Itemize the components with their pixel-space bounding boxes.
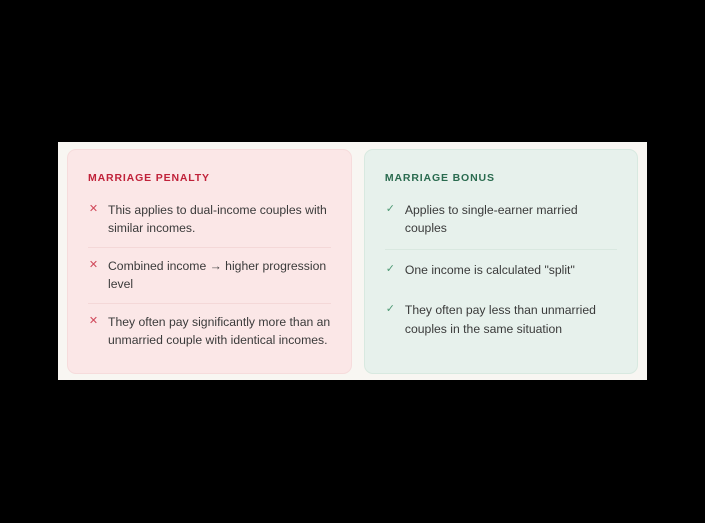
list-item: ✕ Combined income → higher progression l… bbox=[88, 257, 331, 304]
cross-icon: ✕ bbox=[88, 313, 99, 331]
comparison-panel: MARRIAGE PENALTY ✕ This applies to dual-… bbox=[58, 142, 647, 380]
list-item: ✕ They often pay significantly more than… bbox=[88, 313, 331, 350]
list-item-label: Combined income → higher progression lev… bbox=[108, 257, 331, 294]
list-item: ✕ This applies to dual-income couples wi… bbox=[88, 201, 331, 248]
card-title-marriage-penalty: MARRIAGE PENALTY bbox=[88, 172, 331, 185]
list-item: ✓ One income is calculated "split" bbox=[385, 261, 617, 291]
list-item-label: Applies to single-earner married couples bbox=[405, 201, 617, 238]
list-item-label: They often pay less than unmarried coupl… bbox=[405, 301, 617, 338]
list-item-label: They often pay significantly more than a… bbox=[108, 313, 331, 350]
card-title-marriage-bonus: MARRIAGE BONUS bbox=[385, 172, 617, 185]
list-item: ✓ They often pay less than unmarried cou… bbox=[385, 301, 617, 338]
card-marriage-penalty: MARRIAGE PENALTY ✕ This applies to dual-… bbox=[67, 149, 352, 374]
list-item-label: One income is calculated "split" bbox=[405, 261, 617, 280]
check-icon: ✓ bbox=[385, 301, 396, 319]
card-marriage-bonus: MARRIAGE BONUS ✓ Applies to single-earne… bbox=[364, 149, 638, 374]
cross-icon: ✕ bbox=[88, 257, 99, 275]
bonus-list: ✓ Applies to single-earner married coupl… bbox=[385, 201, 617, 339]
list-item: ✓ Applies to single-earner married coupl… bbox=[385, 201, 617, 250]
screenshot-root: MARRIAGE PENALTY ✕ This applies to dual-… bbox=[0, 0, 705, 523]
cross-icon: ✕ bbox=[88, 201, 99, 219]
check-icon: ✓ bbox=[385, 201, 396, 219]
list-item-label: This applies to dual-income couples with… bbox=[108, 201, 331, 238]
check-icon: ✓ bbox=[385, 261, 396, 279]
penalty-list: ✕ This applies to dual-income couples wi… bbox=[88, 201, 331, 350]
